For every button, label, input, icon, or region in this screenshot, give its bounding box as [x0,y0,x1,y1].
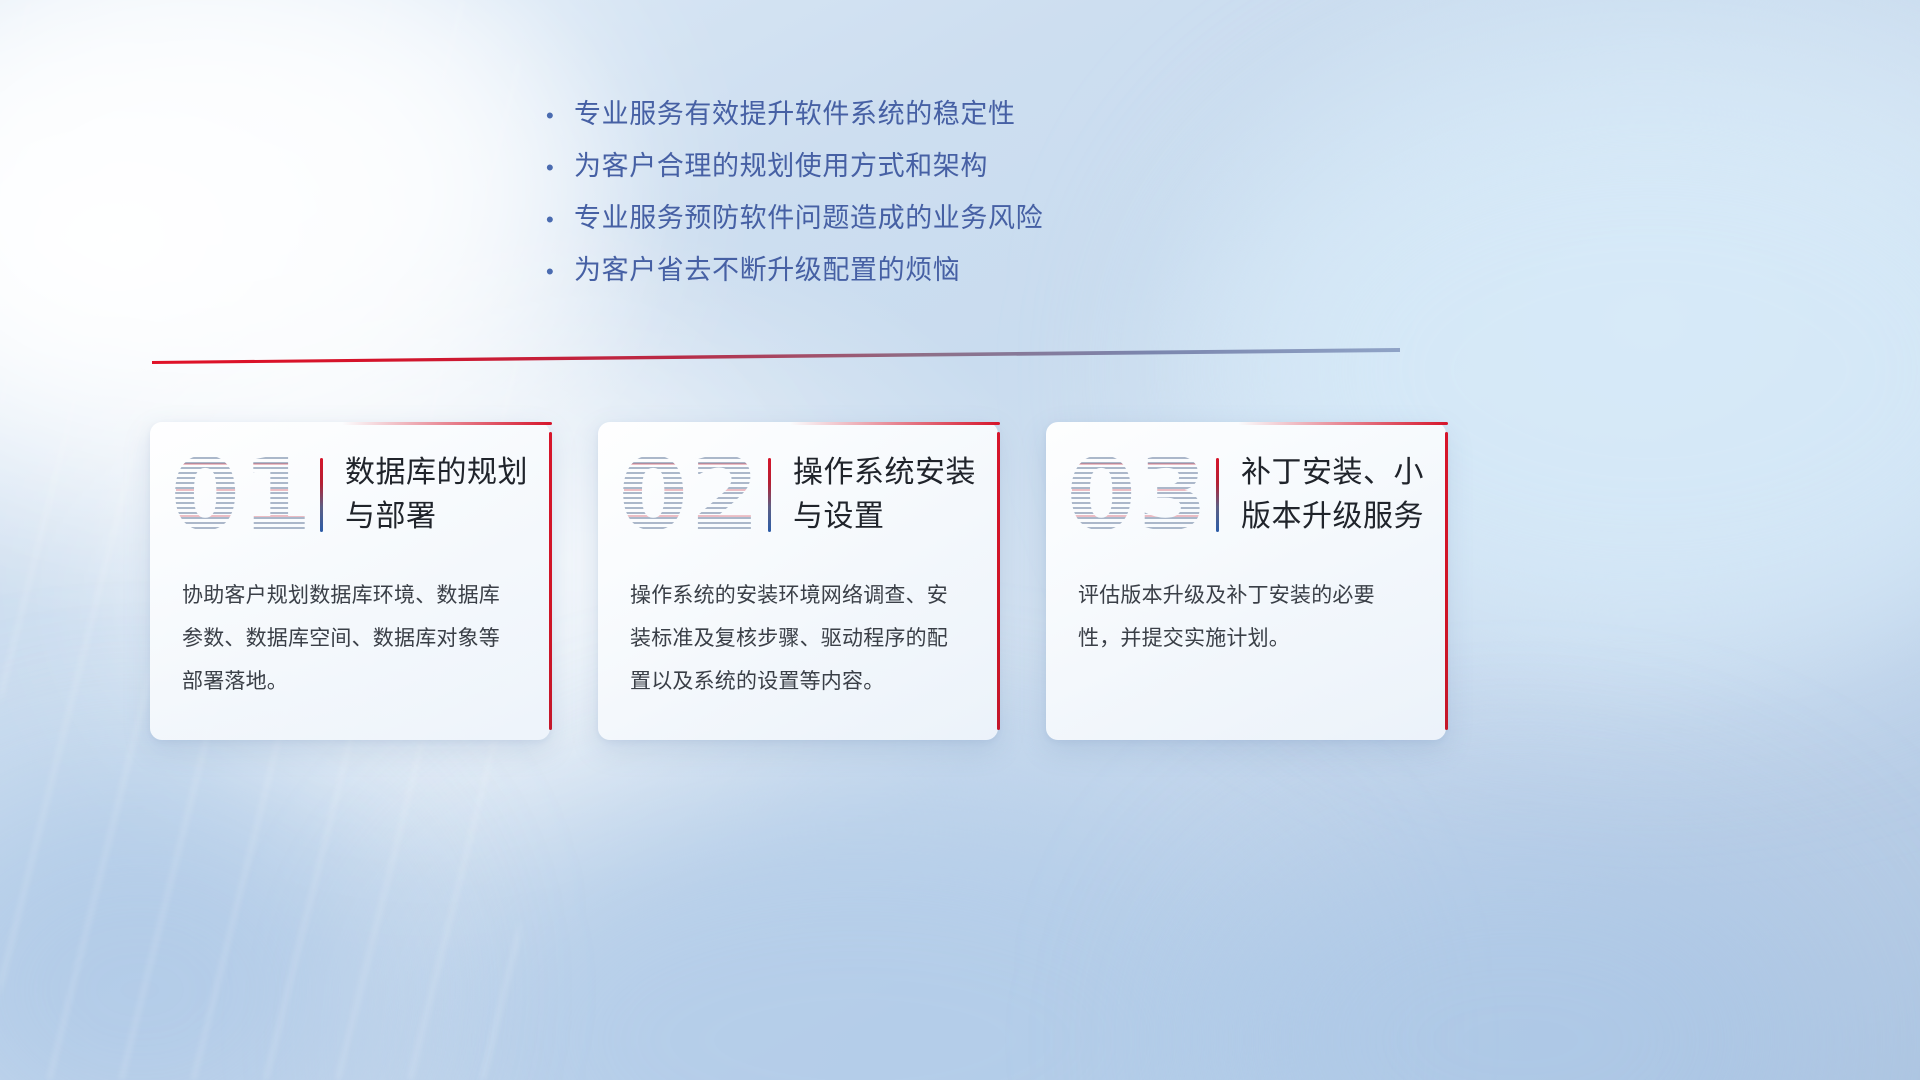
bullet-text: 专业服务预防软件问题造成的业务风险 [574,192,1043,244]
card-header: 03 03 补丁安装、小版本升级服务 [1046,422,1446,568]
bullet-dot-icon: • [540,105,574,127]
card-number-badge: 03 03 [1072,437,1204,553]
bullet-text: 为客户省去不断升级配置的烦恼 [574,244,960,296]
background-glow-5 [0,780,400,1080]
card-header: 02 02 操作系统安装与设置 [598,422,998,568]
service-card-row: 01 01 数据库的规划与部署 协助客户规划数据库环境、数据库参数、数据库空间、… [150,422,1770,740]
service-card-02[interactable]: 02 02 操作系统安装与设置 操作系统的安装环境网络调查、安装标准及复核步骤、… [598,422,998,740]
bullet-dot-icon: • [540,209,574,231]
card-header: 01 01 数据库的规划与部署 [150,422,550,568]
background-glow-4 [420,780,1300,1080]
card-number-text-tint: 02 [624,437,756,553]
bullet-text: 专业服务有效提升软件系统的稳定性 [574,88,1016,140]
background-glow-6 [1200,820,1840,1080]
card-title: 补丁安装、小版本升级服务 [1241,451,1446,539]
slide-canvas: • 专业服务有效提升软件系统的稳定性 • 为客户合理的规划使用方式和架构 • 专… [0,0,1920,1080]
card-title: 数据库的规划与部署 [345,451,550,539]
card-description: 协助客户规划数据库环境、数据库参数、数据库空间、数据库对象等部署落地。 [150,568,550,703]
card-number-badge: 01 01 [176,437,308,553]
card-title: 操作系统安装与设置 [793,451,998,539]
benefit-bullet-list: • 专业服务有效提升软件系统的稳定性 • 为客户合理的规划使用方式和架构 • 专… [540,88,1460,296]
card-divider-rule [320,458,323,532]
service-card-03[interactable]: 03 03 补丁安装、小版本升级服务 评估版本升级及补丁安装的必要性，并提交实施… [1046,422,1446,740]
service-card-01[interactable]: 01 01 数据库的规划与部署 协助客户规划数据库环境、数据库参数、数据库空间、… [150,422,550,740]
divider-shape [152,348,1400,364]
background-glow-1 [0,0,590,470]
card-divider-rule [1216,458,1219,532]
list-item: • 为客户合理的规划使用方式和架构 [540,140,1460,192]
card-description: 操作系统的安装环境网络调查、安装标准及复核步骤、驱动程序的配置以及系统的设置等内… [598,568,998,703]
card-description: 评估版本升级及补丁安装的必要性，并提交实施计划。 [1046,568,1446,660]
bullet-dot-icon: • [540,261,574,283]
bullet-dot-icon: • [540,157,574,179]
list-item: • 为客户省去不断升级配置的烦恼 [540,244,1460,296]
card-number-text-tint: 03 [1072,437,1204,553]
list-item: • 专业服务有效提升软件系统的稳定性 [540,88,1460,140]
card-number-badge: 02 02 [624,437,756,553]
section-divider [152,348,1400,364]
card-number-text-tint: 01 [176,437,308,553]
list-item: • 专业服务预防软件问题造成的业务风险 [540,192,1460,244]
card-divider-rule [768,458,771,532]
bullet-text: 为客户合理的规划使用方式和架构 [574,140,988,192]
